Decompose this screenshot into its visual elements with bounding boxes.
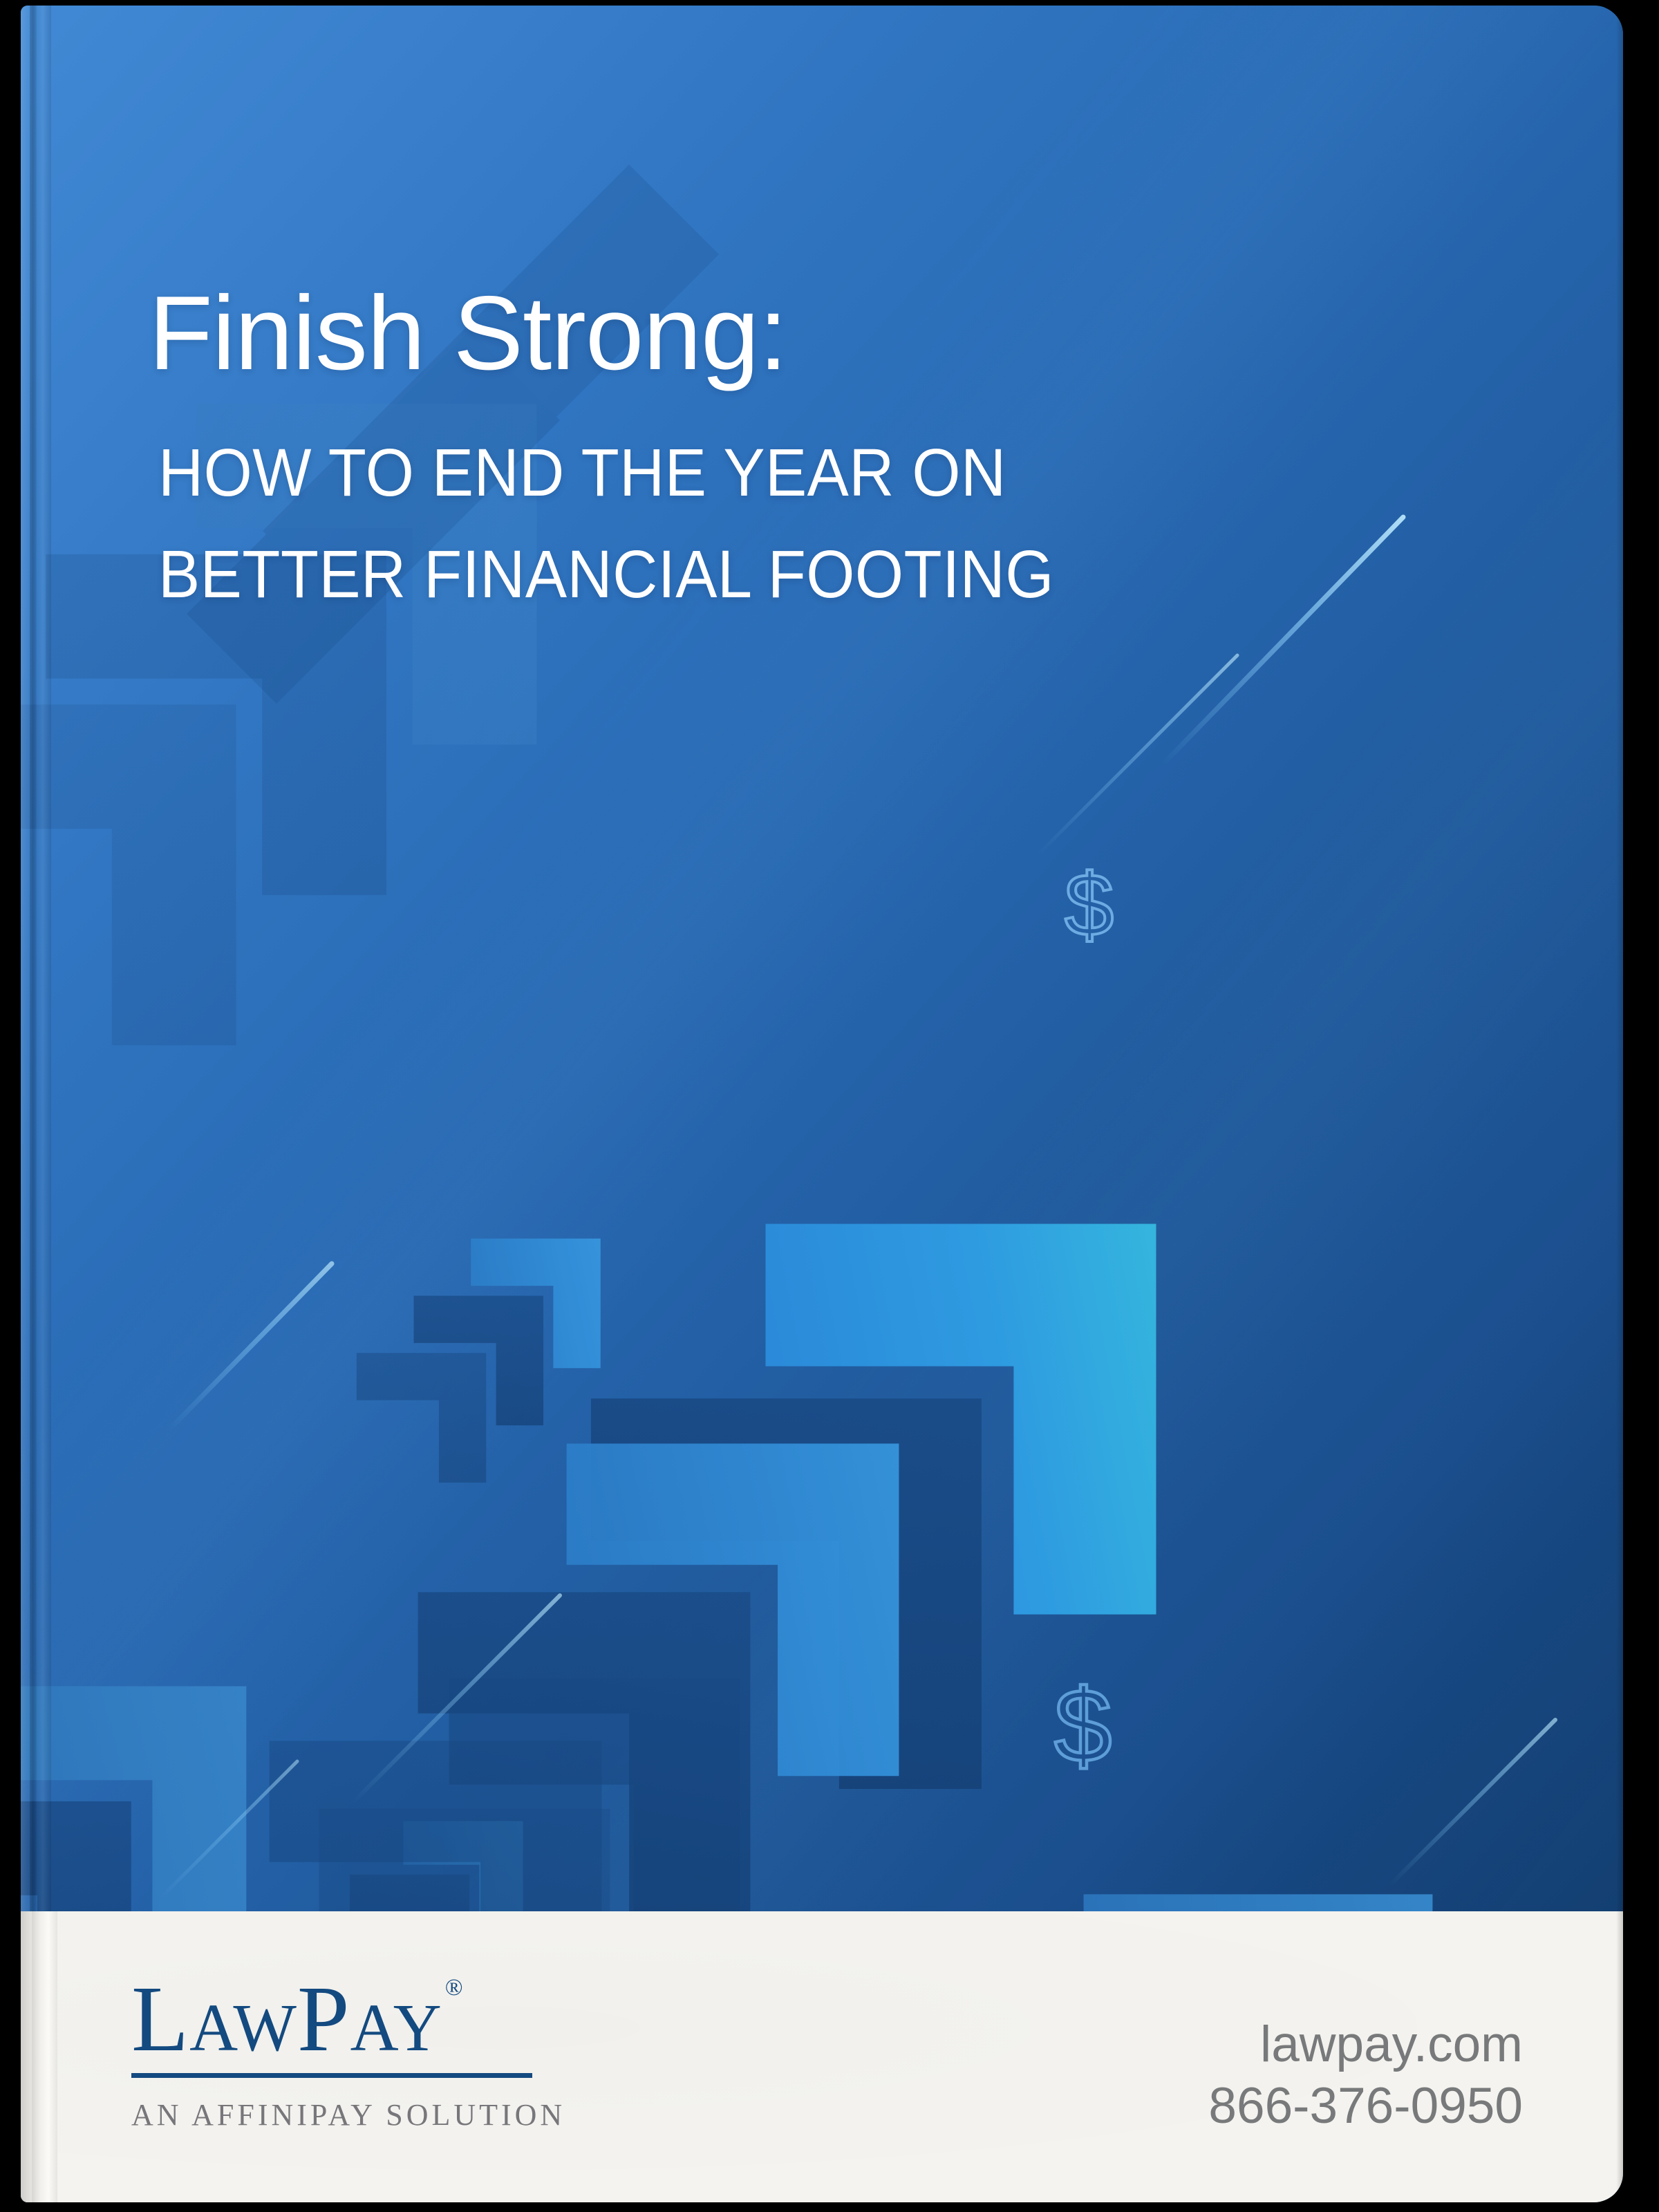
footer-spine-gutter xyxy=(39,1911,57,2202)
website-url[interactable]: lawpay.com xyxy=(1208,2014,1523,2075)
cover-subtitle: HOW TO END THE YEAR ON BETTER FINANCIAL … xyxy=(158,422,1178,626)
title-block: Finish Strong: HOW TO END THE YEAR ON BE… xyxy=(149,281,1255,626)
contact-block: lawpay.com 866-376-0950 xyxy=(1208,2014,1523,2137)
logo-letter-l: L xyxy=(131,1967,189,2071)
phone-number[interactable]: 866-376-0950 xyxy=(1208,2075,1523,2137)
dollar-sign-upper: $ xyxy=(1065,856,1114,955)
logo-letters-aw: AW xyxy=(189,1991,297,2065)
cover-art-panel: $ $ Finish Strong: HOW TO END THE YEAR O… xyxy=(21,6,1623,1911)
logo-divider-rule xyxy=(131,2073,532,2078)
logo-tagline: AN AFFINIPAY SOLUTION xyxy=(131,2097,560,2133)
cover-title: Finish Strong: xyxy=(149,281,1255,386)
book-cover: $ $ Finish Strong: HOW TO END THE YEAR O… xyxy=(21,6,1623,2202)
dollar-sign-lower: $ xyxy=(1054,1667,1112,1783)
lawpay-logo: LAWPAY® AN AFFINIPAY SOLUTION xyxy=(131,1972,560,2133)
cover-footer: LAWPAY® AN AFFINIPAY SOLUTION lawpay.com… xyxy=(21,1911,1623,2202)
logo-letters-ay: AY xyxy=(350,1991,442,2065)
logo-letter-p: P xyxy=(297,1967,350,2071)
lawpay-wordmark: LAWPAY® xyxy=(131,1972,442,2066)
registered-trademark-icon: ® xyxy=(445,1976,464,2000)
